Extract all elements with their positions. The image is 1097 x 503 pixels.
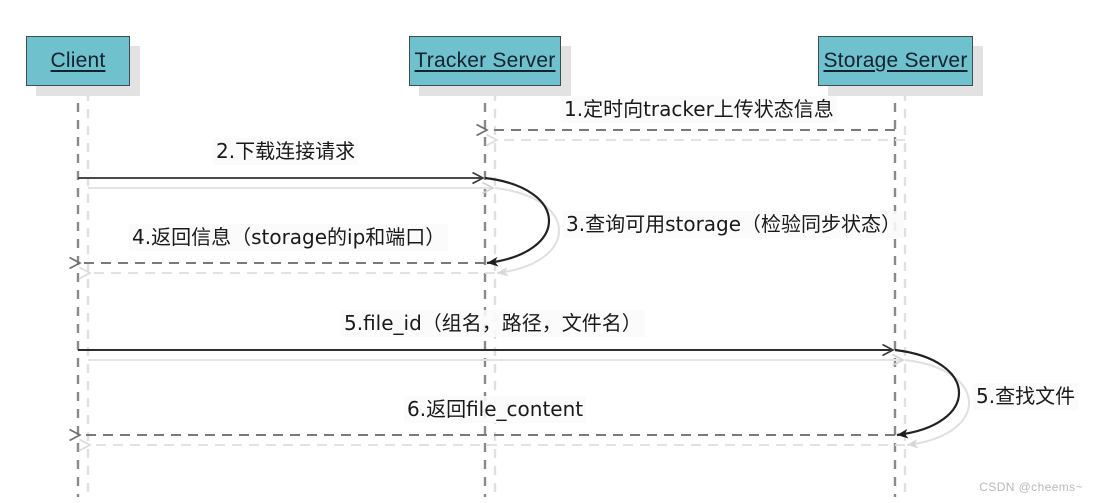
watermark: CSDN @cheems~ bbox=[979, 480, 1083, 494]
participant-label-tracker: Tracker Server bbox=[415, 49, 556, 73]
message-label-1: 1.定时向tracker上传状态信息 bbox=[561, 96, 837, 123]
message-label-4: 4.返回信息（storage的ip和端口） bbox=[129, 224, 448, 251]
message-arrow-6 bbox=[80, 435, 905, 445]
lifelines-ghost bbox=[88, 92, 905, 497]
participant-client[interactable]: Client bbox=[26, 36, 130, 86]
message-label-5: 5.file_id（组名，路径，文件名） bbox=[341, 310, 645, 337]
participant-label-client: Client bbox=[51, 49, 106, 73]
participant-storage[interactable]: Storage Server bbox=[818, 36, 973, 86]
message-arrow-5 bbox=[78, 350, 903, 360]
message-arrow-4 bbox=[80, 263, 495, 273]
participant-label-storage: Storage Server bbox=[823, 49, 967, 73]
message-label-3: 3.查询可用storage（检验同步状态） bbox=[563, 211, 904, 238]
message-arrow-1 bbox=[487, 130, 905, 140]
message-label-6: 6.返回file_content bbox=[404, 396, 586, 423]
message-label-5b: 5.查找文件 bbox=[973, 383, 1078, 410]
participant-tracker[interactable]: Tracker Server bbox=[409, 36, 561, 86]
message-arrow-2 bbox=[78, 178, 493, 188]
message-label-2: 2.下载连接请求 bbox=[213, 138, 358, 165]
sequence-diagram: Client Tracker Server Storage Server 1.定… bbox=[0, 0, 1097, 503]
message-selfloop-3 bbox=[485, 178, 559, 273]
